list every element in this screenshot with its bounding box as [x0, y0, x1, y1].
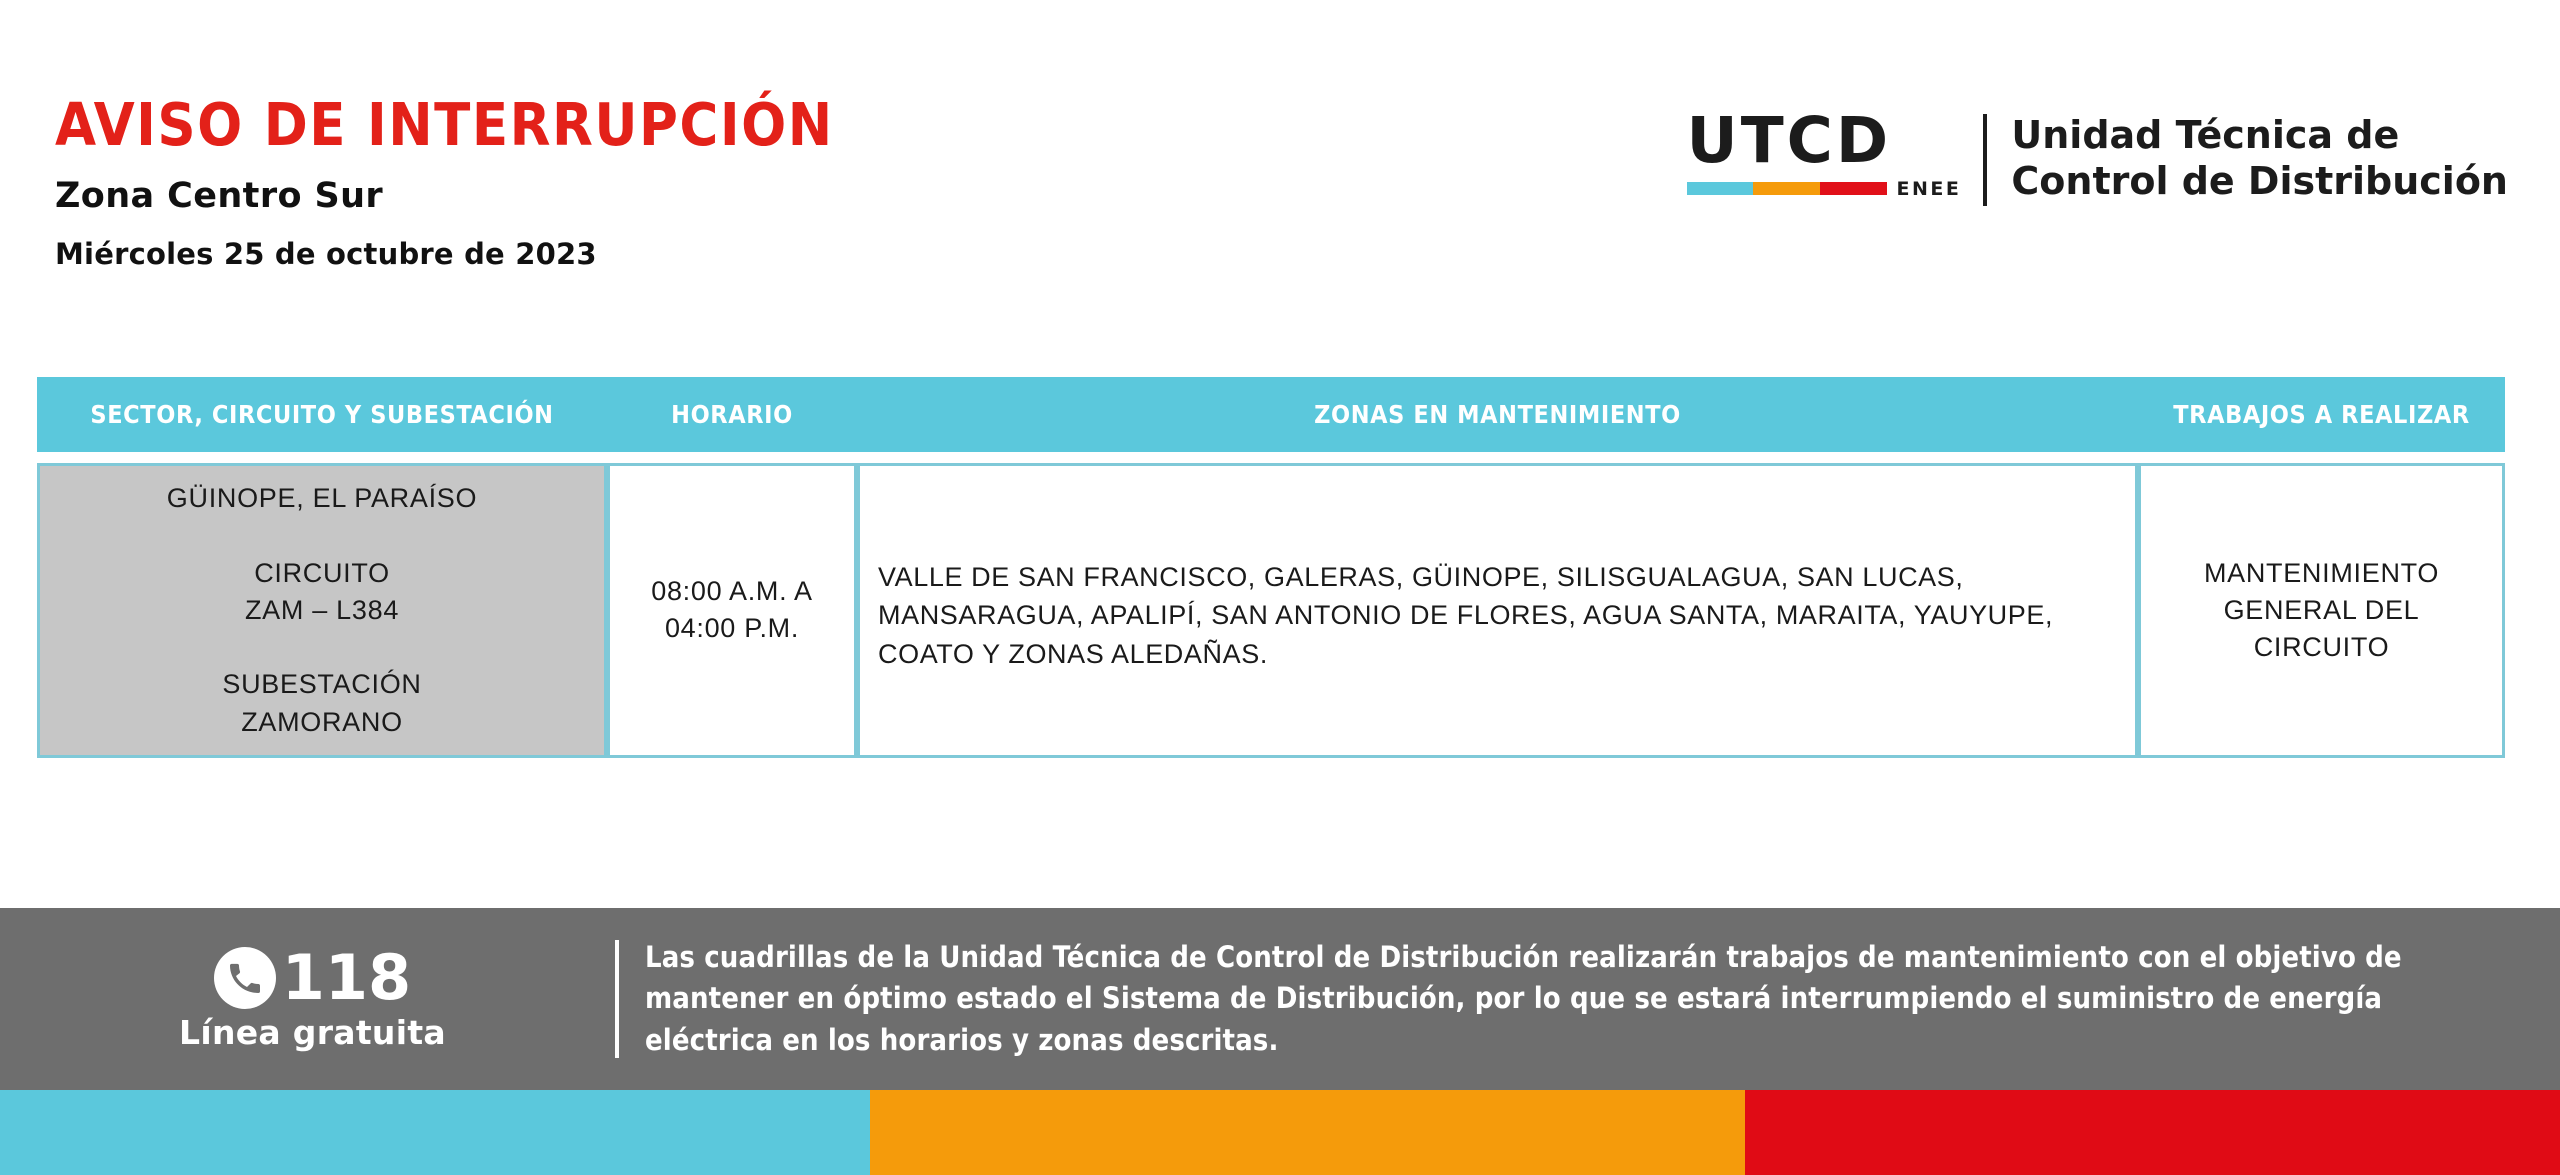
- cell-sector: GÜINOPE, EL PARAÍSO CIRCUITO ZAM – L384 …: [37, 463, 607, 758]
- utcd-logo: UTCD ENEE Unidad Técnica de Control de D…: [1687, 112, 2508, 206]
- footer-bar: 118 Línea gratuita Las cuadrillas de la …: [0, 908, 2560, 1090]
- table-header-row: SECTOR, CIRCUITO Y SUBESTACIÓN HORARIO Z…: [37, 377, 2505, 452]
- page-header: AVISO DE INTERRUPCIÓN Zona Centro Sur Mi…: [0, 0, 2560, 360]
- column-header-sector: SECTOR, CIRCUITO Y SUBESTACIÓN: [37, 377, 607, 452]
- phone-icon: [214, 947, 276, 1009]
- logo-acronym: UTCD: [1687, 112, 1892, 170]
- bottom-color-strip: [0, 1090, 2560, 1175]
- column-header-zonas: ZONAS EN MANTENIMIENTO: [857, 377, 2138, 452]
- hotline-block: 118 Línea gratuita: [0, 947, 615, 1052]
- logo-divider: [1983, 114, 1987, 206]
- footer-divider: [615, 940, 619, 1058]
- logo-bar-orange: [1753, 182, 1820, 195]
- footer-notice-text: Las cuadrillas de la Unidad Técnica de C…: [645, 937, 2435, 1061]
- hotline-label: Línea gratuita: [179, 1013, 446, 1052]
- strip-segment-red: [1745, 1090, 2560, 1175]
- logo-text-line-2: Control de Distribución: [2011, 158, 2508, 204]
- logo-bar-row: ENEE: [1687, 178, 1962, 200]
- logo-bar-red: [1820, 182, 1887, 195]
- cell-zonas: VALLE DE SAN FRANCISCO, GALERAS, GÜINOPE…: [857, 463, 2138, 758]
- logo-text-line-1: Unidad Técnica de: [2011, 112, 2508, 158]
- cell-horario: 08:00 A.M. A 04:00 P.M.: [607, 463, 857, 758]
- logo-text-block: Unidad Técnica de Control de Distribució…: [2011, 112, 2508, 205]
- column-header-horario: HORARIO: [607, 377, 857, 452]
- outage-table: SECTOR, CIRCUITO Y SUBESTACIÓN HORARIO Z…: [37, 377, 2505, 758]
- notice-date: Miércoles 25 de octubre de 2023: [55, 216, 834, 271]
- table-row: GÜINOPE, EL PARAÍSO CIRCUITO ZAM – L384 …: [37, 463, 2505, 758]
- column-header-trabajos: TRABAJOS A REALIZAR: [2138, 377, 2505, 452]
- zone-subtitle: Zona Centro Sur: [55, 154, 834, 216]
- logo-mark: UTCD ENEE: [1687, 112, 1984, 200]
- strip-segment-orange: [870, 1090, 1745, 1175]
- hotline-row: 118: [214, 947, 411, 1009]
- page-title: AVISO DE INTERRUPCIÓN: [55, 95, 834, 154]
- logo-color-bars: [1687, 182, 1887, 195]
- strip-segment-cyan: [0, 1090, 870, 1175]
- logo-bar-cyan: [1687, 182, 1754, 195]
- hotline-number: 118: [282, 947, 411, 1009]
- cell-trabajos: MANTENIMIENTO GENERAL DEL CIRCUITO: [2138, 463, 2505, 758]
- logo-enee-label: ENEE: [1897, 178, 1962, 200]
- title-block: AVISO DE INTERRUPCIÓN Zona Centro Sur Mi…: [55, 95, 834, 271]
